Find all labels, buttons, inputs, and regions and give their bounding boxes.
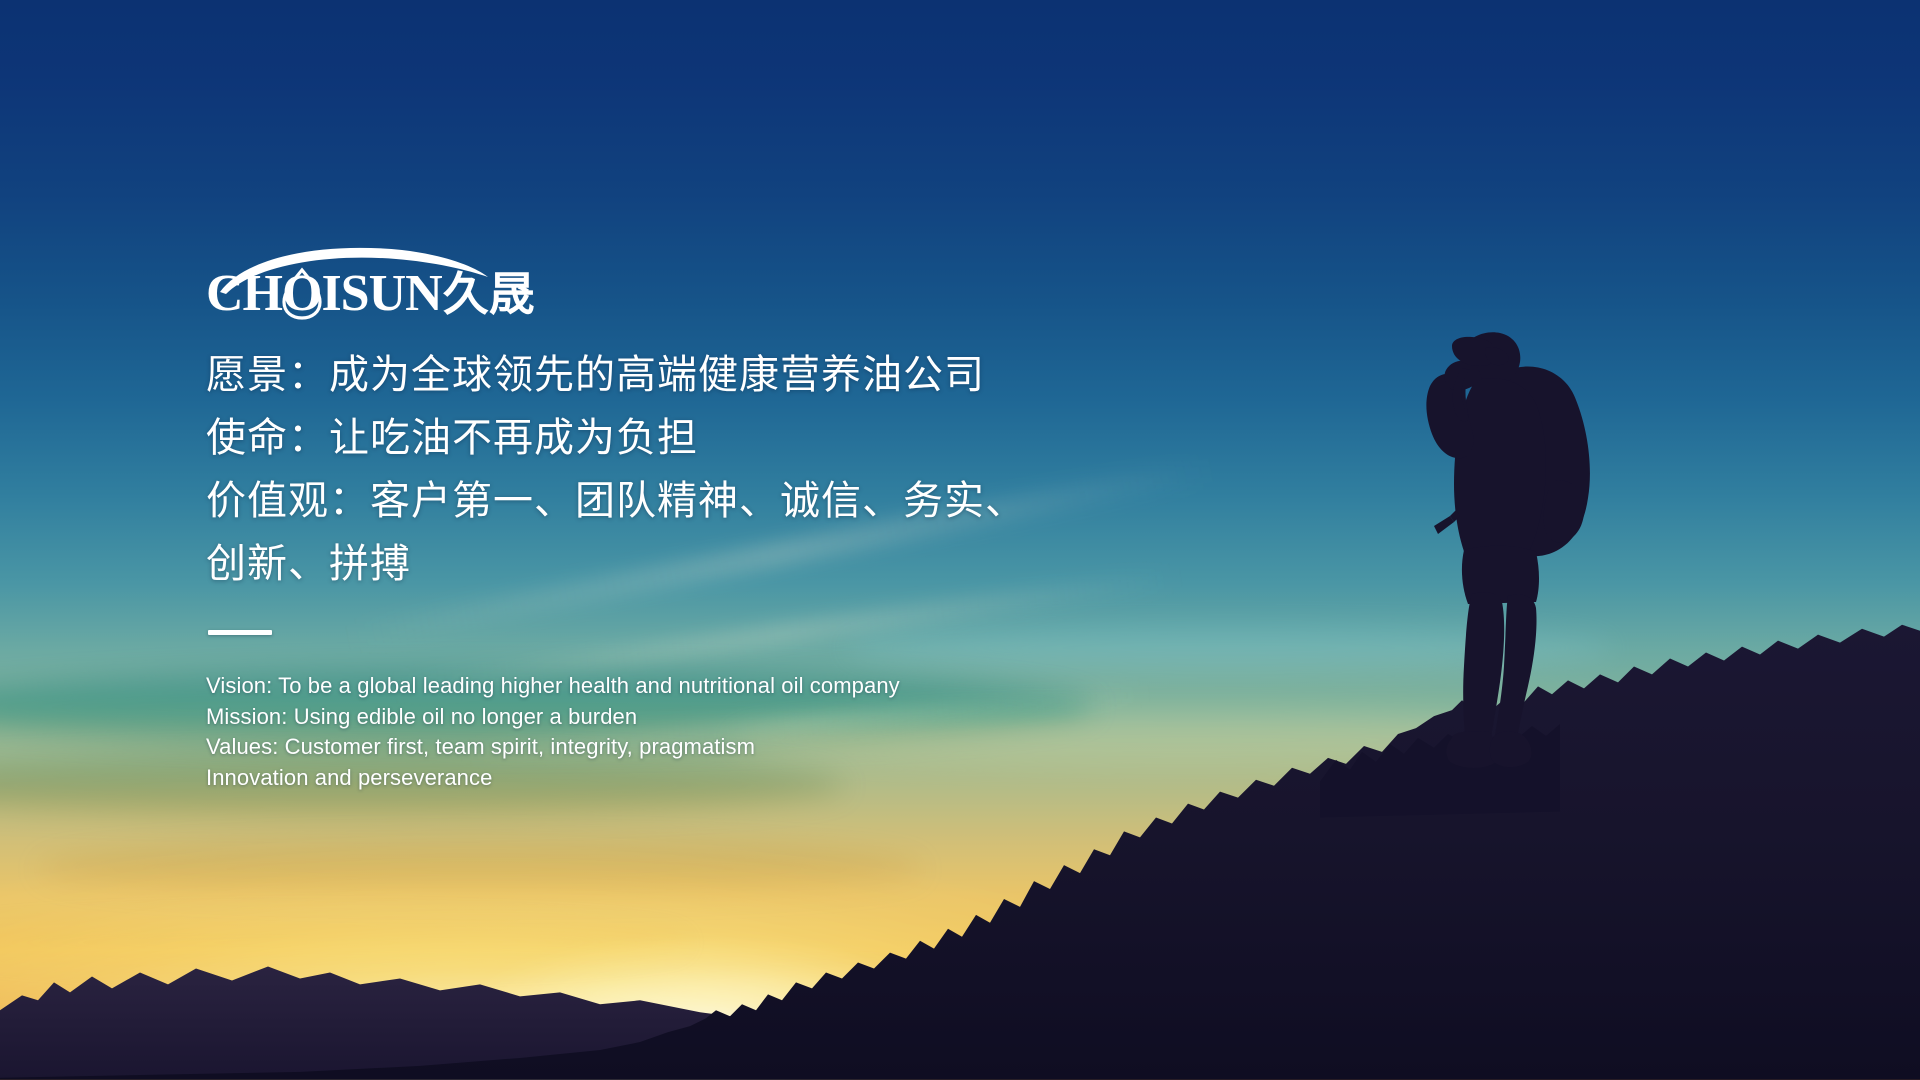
vision-line-cn: 愿景：成为全球领先的高端健康营养油公司 xyxy=(206,344,1126,407)
slide-canvas: CHOISUN 久晟 愿景：成为全球领先的高端健康营养油公司 使命：让吃油不再成… xyxy=(0,0,1920,1080)
vision-mission-values-en: Vision: To be a global leading higher he… xyxy=(206,671,1126,793)
mission-line-en: Mission: Using edible oil no longer a bu… xyxy=(206,702,1126,733)
logo-cjk-text: 久晟 xyxy=(443,271,535,317)
mission-line-cn: 使命：让吃油不再成为负担 xyxy=(206,407,1126,470)
values-line-cn-cont: 创新、拼搏 xyxy=(206,533,1126,596)
values-line-en: Values: Customer first, team spirit, int… xyxy=(206,732,1126,763)
values-line-en-cont: Innovation and perseverance xyxy=(206,763,1126,794)
content-block: CHOISUN 久晟 愿景：成为全球领先的高端健康营养油公司 使命：让吃油不再成… xyxy=(206,246,1126,793)
logo-latin-text: CHOISUN xyxy=(206,268,442,320)
photographer-silhouette xyxy=(1390,330,1640,800)
horizontal-rule xyxy=(208,630,272,635)
company-logo[interactable]: CHOISUN 久晟 xyxy=(206,246,1126,322)
vision-mission-values-cn: 愿景：成为全球领先的高端健康营养油公司 使命：让吃油不再成为负担 价值观：客户第… xyxy=(206,344,1126,596)
vision-line-en: Vision: To be a global leading higher he… xyxy=(206,671,1126,702)
values-line-cn: 价值观：客户第一、团队精神、诚信、务实、 xyxy=(206,470,1126,533)
